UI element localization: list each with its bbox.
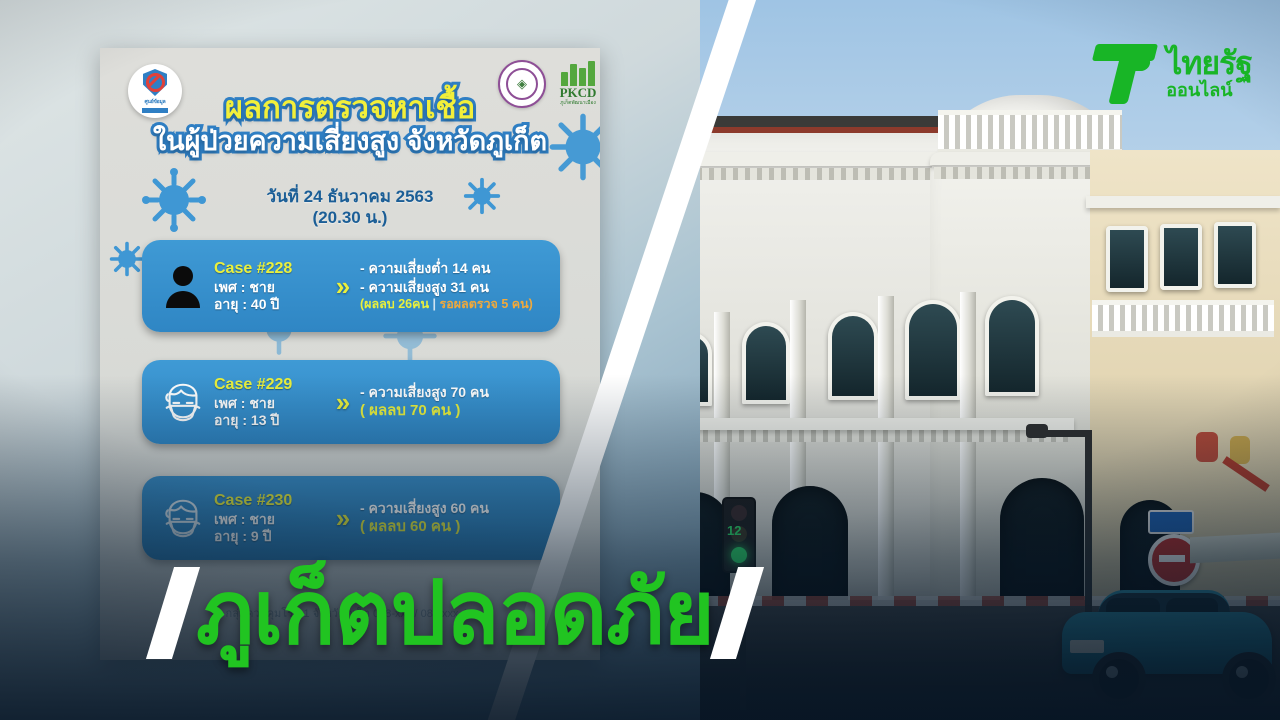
poster-date-line1: วันที่ 24 ธันวาคม 2563	[100, 186, 600, 207]
window	[828, 312, 878, 400]
window	[1160, 224, 1202, 290]
result-line: - ความเสี่ยงสูง 70 คน	[360, 383, 550, 401]
case-meta: Case #230 เพศ : ชาย อายุ : 9 ปี	[214, 491, 320, 546]
window	[905, 300, 961, 400]
result-pending: รอผลตรวจ 5 คน)	[439, 297, 532, 311]
case-age: อายุ : 13 ปี	[214, 412, 320, 430]
case-age: อายุ : 9 ปี	[214, 528, 320, 546]
brand-sub: ออนไลน์	[1166, 81, 1252, 99]
result-separator: |	[429, 297, 439, 311]
slash-right-icon	[710, 567, 764, 659]
shop-awning	[1190, 533, 1280, 564]
thairath-t-mark-icon	[1092, 42, 1156, 104]
poster-title: ผลการตรวจหาเชื้อ ในผู้ป่วยความเสี่ยงสูง …	[100, 92, 600, 156]
result-negative: ( ผลลบ 60 คน )	[360, 517, 550, 537]
poster-title-line1: ผลการตรวจหาเชื้อ	[100, 92, 600, 125]
chevron-right-icon: »	[320, 387, 360, 418]
masked-face-icon	[152, 495, 214, 541]
poster-title-line2: ในผู้ป่วยความเสี่ยงสูง จังหวัดภูเก็ต	[100, 127, 600, 157]
result-line: - ความเสี่ยงสูง 31 คน	[360, 278, 550, 296]
thairath-online-logo[interactable]: ไทยรัฐ ออนไลน์	[1092, 42, 1252, 104]
dentil-band-lower	[648, 430, 1068, 442]
headline-overlay: ภูเก็ตปลอดภัย	[160, 548, 1120, 678]
brand-text: ไทยรัฐ ออนไลน์	[1166, 47, 1252, 99]
brand-name: ไทยรัฐ	[1166, 47, 1252, 79]
result-negative: ( ผลลบ 70 คน )	[360, 401, 550, 421]
balustrade-top	[938, 110, 1122, 155]
case-card[interactable]: Case #228 เพศ : ชาย อายุ : 40 ปี » - ควา…	[142, 240, 560, 332]
result-sub: (ผลลบ 26คน | รอผลตรวจ 5 คน)	[360, 296, 550, 313]
masked-face-icon	[152, 379, 214, 425]
case-sex: เพศ : ชาย	[214, 279, 320, 297]
headline-text: ภูเก็ตปลอดภัย	[196, 569, 714, 657]
result-line: - ความเสี่ยงต่ำ 14 คน	[360, 259, 550, 277]
virus-icon	[108, 240, 146, 278]
blue-info-sign-icon	[1148, 510, 1194, 534]
traffic-light-countdown: 12	[727, 523, 741, 538]
case-age: อายุ : 40 ปี	[214, 296, 320, 314]
lantern-icon	[1196, 432, 1218, 462]
pkcd-buildings-icon	[550, 60, 600, 86]
case-results: - ความเสี่ยงต่ำ 14 คน - ความเสี่ยงสูง 31…	[360, 259, 550, 312]
traffic-light-red	[731, 505, 747, 521]
poster-date: วันที่ 24 ธันวาคม 2563 (20.30 น.)	[100, 186, 600, 229]
window	[985, 296, 1039, 396]
case-number: Case #230	[214, 491, 320, 511]
shophouse-balustrade	[1092, 300, 1274, 337]
street-lamp-head	[1026, 424, 1048, 438]
case-meta: Case #228 เพศ : ชาย อายุ : 40 ปี	[214, 259, 320, 314]
window	[742, 322, 790, 404]
case-results: - ความเสี่ยงสูง 60 คน ( ผลลบ 60 คน )	[360, 499, 550, 537]
case-card[interactable]: Case #229 เพศ : ชาย อายุ : 13 ปี » - ควา…	[142, 360, 560, 444]
window	[1106, 226, 1148, 292]
case-meta: Case #229 เพศ : ชาย อายุ : 13 ปี	[214, 375, 320, 430]
shophouse-cornice	[1086, 196, 1280, 208]
screenshot-root: 12	[0, 0, 1280, 720]
case-sex: เพศ : ชาย	[214, 395, 320, 413]
person-silhouette-icon	[152, 264, 214, 308]
result-negative: (ผลลบ 26คน	[360, 297, 429, 311]
case-sex: เพศ : ชาย	[214, 511, 320, 529]
mid-cornice	[644, 418, 1074, 430]
chevron-right-icon: »	[320, 503, 360, 534]
case-number: Case #228	[214, 259, 320, 279]
window	[1214, 222, 1256, 288]
case-number: Case #229	[214, 375, 320, 395]
case-results: - ความเสี่ยงสูง 70 คน ( ผลลบ 70 คน )	[360, 383, 550, 421]
poster-date-line2: (20.30 น.)	[100, 207, 600, 228]
result-line: - ความเสี่ยงสูง 60 คน	[360, 499, 550, 517]
chevron-right-icon: »	[320, 271, 360, 302]
car-wheel	[1222, 652, 1276, 706]
